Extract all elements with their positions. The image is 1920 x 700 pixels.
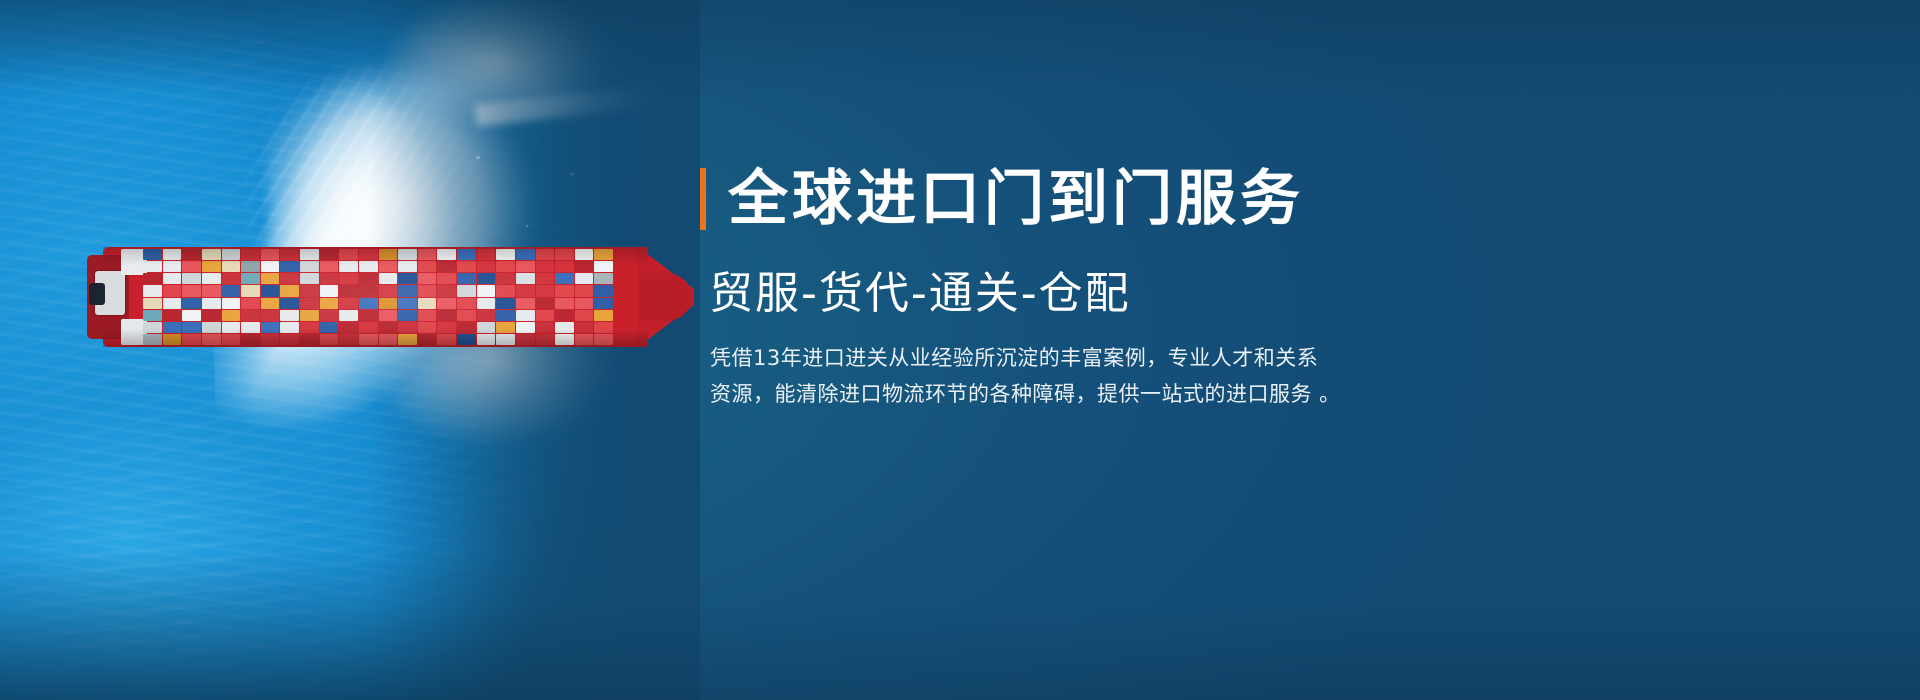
shipping-container — [261, 285, 280, 296]
shipping-container — [261, 298, 280, 309]
shipping-container — [379, 273, 398, 284]
shipping-container — [300, 285, 319, 296]
shipping-container — [555, 298, 574, 309]
shipping-container — [555, 261, 574, 272]
shipping-container — [555, 273, 574, 284]
shipping-container — [477, 322, 496, 333]
shipping-container — [575, 249, 594, 260]
shipping-container — [496, 322, 515, 333]
shipping-container — [202, 261, 221, 272]
shipping-container — [182, 285, 201, 296]
shipping-container — [594, 261, 613, 272]
container-stack — [575, 249, 594, 345]
shipping-container — [437, 249, 456, 260]
shipping-container — [457, 249, 476, 260]
shipping-container — [339, 261, 358, 272]
container-stack — [280, 249, 299, 345]
shipping-container — [320, 310, 339, 321]
shipping-container — [594, 322, 613, 333]
shipping-container — [398, 285, 417, 296]
shipping-container — [536, 322, 555, 333]
shipping-container — [182, 249, 201, 260]
shipping-container — [418, 249, 437, 260]
shipping-container — [182, 334, 201, 345]
shipping-container — [496, 298, 515, 309]
shipping-container — [555, 249, 574, 260]
shipping-container — [516, 322, 535, 333]
container-stack — [594, 249, 613, 345]
shipping-container — [379, 298, 398, 309]
shipping-container — [143, 334, 162, 345]
container-stack — [339, 249, 358, 345]
container-stack — [516, 249, 535, 345]
shipping-container — [280, 334, 299, 345]
shipping-container — [437, 261, 456, 272]
shipping-container — [300, 249, 319, 260]
shipping-container — [359, 261, 378, 272]
shipping-container — [575, 334, 594, 345]
shipping-container — [359, 310, 378, 321]
shipping-container — [575, 285, 594, 296]
shipping-container — [536, 310, 555, 321]
shipping-container — [182, 322, 201, 333]
shipping-container — [143, 298, 162, 309]
shipping-container — [437, 298, 456, 309]
shipping-container — [496, 249, 515, 260]
shipping-container — [379, 310, 398, 321]
shipping-container — [163, 273, 182, 284]
shipping-container — [300, 298, 319, 309]
shipping-container — [182, 261, 201, 272]
shipping-container — [477, 261, 496, 272]
shipping-container — [477, 249, 496, 260]
container-stack — [320, 249, 339, 345]
shipping-container — [594, 310, 613, 321]
shipping-container — [418, 322, 437, 333]
shipping-container — [163, 310, 182, 321]
shipping-container — [320, 322, 339, 333]
shipping-container — [339, 285, 358, 296]
shipping-container — [418, 273, 437, 284]
shipping-container — [143, 285, 162, 296]
container-stack — [379, 249, 398, 345]
shipping-container — [202, 310, 221, 321]
shipping-container — [594, 285, 613, 296]
shipping-container — [241, 310, 260, 321]
shipping-container — [320, 249, 339, 260]
container-ship — [103, 247, 648, 347]
shipping-container — [398, 298, 417, 309]
shipping-container — [477, 310, 496, 321]
shipping-container — [496, 285, 515, 296]
shipping-container — [222, 285, 241, 296]
container-stacks — [143, 249, 613, 345]
shipping-container — [143, 249, 162, 260]
accent-bar — [700, 168, 706, 230]
container-stack — [398, 249, 417, 345]
shipping-container — [555, 285, 574, 296]
shipping-container — [163, 249, 182, 260]
shipping-container — [575, 310, 594, 321]
shipping-container — [359, 298, 378, 309]
shipping-container — [241, 334, 260, 345]
shipping-container — [300, 310, 319, 321]
shipping-container — [437, 273, 456, 284]
shipping-container — [261, 249, 280, 260]
shipping-container — [457, 334, 476, 345]
banner-headline: 全球进口门到门服务 — [728, 169, 1304, 229]
shipping-container — [536, 273, 555, 284]
shipping-container — [359, 322, 378, 333]
banner-subheadline: 贸服-货代-通关-仓配 — [709, 272, 1131, 316]
shipping-container — [496, 334, 515, 345]
shipping-container — [398, 273, 417, 284]
shipping-container — [457, 261, 476, 272]
container-stack — [300, 249, 319, 345]
shipping-container — [496, 310, 515, 321]
shipping-container — [339, 249, 358, 260]
shipping-container — [575, 273, 594, 284]
container-stack — [202, 249, 221, 345]
shipping-container — [222, 334, 241, 345]
shipping-container — [437, 322, 456, 333]
shipping-container — [241, 322, 260, 333]
container-stack — [536, 249, 555, 345]
shipping-container — [398, 322, 417, 333]
shipping-container — [241, 273, 260, 284]
shipping-container — [182, 273, 201, 284]
shipping-container — [143, 273, 162, 284]
shipping-container — [222, 310, 241, 321]
shipping-container — [594, 334, 613, 345]
shipping-container — [202, 249, 221, 260]
shipping-container — [359, 334, 378, 345]
shipping-container — [516, 249, 535, 260]
shipping-container — [143, 261, 162, 272]
container-stack — [241, 249, 260, 345]
shipping-container — [163, 261, 182, 272]
shipping-container — [241, 285, 260, 296]
shipping-container — [222, 261, 241, 272]
description-line-2: 资源，能清除进口物流环节的各种障碍，提供一站式的进口服务 。 — [710, 376, 1420, 412]
shipping-container — [379, 322, 398, 333]
shipping-container — [163, 285, 182, 296]
shipping-container — [418, 285, 437, 296]
shipping-container — [516, 261, 535, 272]
shipping-container — [339, 298, 358, 309]
shipping-container — [457, 285, 476, 296]
banner-description: 凭借13年进口进关从业经验所沉淀的丰富案例，专业人才和关系 资源，能清除进口物流… — [710, 340, 1420, 412]
shipping-container — [280, 273, 299, 284]
shipping-container — [222, 273, 241, 284]
shipping-container — [359, 249, 378, 260]
hero-banner: 全球进口门到门服务 贸服-货代-通关-仓配 凭借13年进口进关从业经验所沉淀的丰… — [0, 0, 1920, 700]
shipping-container — [418, 298, 437, 309]
container-stack — [496, 249, 515, 345]
shipping-container — [457, 322, 476, 333]
container-stack — [418, 249, 437, 345]
shipping-container — [398, 249, 417, 260]
shipping-container — [379, 249, 398, 260]
shipping-container — [398, 334, 417, 345]
shipping-container — [457, 310, 476, 321]
shipping-container — [437, 310, 456, 321]
shipping-container — [516, 310, 535, 321]
shipping-container — [261, 310, 280, 321]
headline-row: 全球进口门到门服务 — [700, 168, 1304, 230]
container-stack — [555, 249, 574, 345]
ship-funnel — [89, 283, 105, 305]
shipping-container — [516, 334, 535, 345]
container-stack — [437, 249, 456, 345]
shipping-container — [555, 322, 574, 333]
container-stack — [359, 249, 378, 345]
shipping-container — [320, 273, 339, 284]
shipping-container — [555, 334, 574, 345]
shipping-container — [280, 310, 299, 321]
shipping-container — [457, 273, 476, 284]
shipping-container — [241, 261, 260, 272]
shipping-container — [496, 261, 515, 272]
shipping-container — [516, 273, 535, 284]
shipping-container — [437, 334, 456, 345]
shipping-container — [261, 334, 280, 345]
shipping-container — [418, 261, 437, 272]
shipping-container — [202, 334, 221, 345]
shipping-container — [202, 285, 221, 296]
shipping-container — [163, 298, 182, 309]
shipping-container — [575, 298, 594, 309]
shipping-container — [398, 261, 417, 272]
shipping-container — [594, 249, 613, 260]
shipping-container — [280, 285, 299, 296]
shipping-container — [300, 273, 319, 284]
shipping-container — [300, 322, 319, 333]
shipping-container — [555, 310, 574, 321]
ship-bow-tip — [640, 273, 692, 321]
shipping-container — [359, 273, 378, 284]
shipping-container — [418, 334, 437, 345]
shipping-container — [477, 273, 496, 284]
shipping-container — [379, 334, 398, 345]
shipping-container — [143, 322, 162, 333]
shipping-container — [241, 249, 260, 260]
shipping-container — [339, 334, 358, 345]
shipping-container — [261, 322, 280, 333]
shipping-container — [536, 334, 555, 345]
container-stack — [457, 249, 476, 345]
shipping-container — [437, 285, 456, 296]
shipping-container — [320, 285, 339, 296]
shipping-container — [594, 273, 613, 284]
shipping-container — [516, 298, 535, 309]
shipping-container — [398, 310, 417, 321]
container-stack — [163, 249, 182, 345]
container-stack — [182, 249, 201, 345]
shipping-container — [202, 322, 221, 333]
description-line-1: 凭借13年进口进关从业经验所沉淀的丰富案例，专业人才和关系 — [710, 340, 1420, 376]
shipping-container — [457, 298, 476, 309]
shipping-container — [280, 298, 299, 309]
shipping-container — [477, 285, 496, 296]
shipping-container — [477, 334, 496, 345]
shipping-container — [418, 310, 437, 321]
shipping-container — [241, 298, 260, 309]
shipping-container — [496, 273, 515, 284]
shipping-container — [202, 298, 221, 309]
shipping-container — [575, 322, 594, 333]
shipping-container — [280, 322, 299, 333]
shipping-container — [379, 285, 398, 296]
shipping-container — [339, 310, 358, 321]
shipping-container — [280, 249, 299, 260]
shipping-container — [163, 322, 182, 333]
shipping-container — [143, 310, 162, 321]
shipping-container — [202, 273, 221, 284]
shipping-container — [536, 249, 555, 260]
shipping-container — [339, 322, 358, 333]
shipping-container — [379, 261, 398, 272]
shipping-container — [300, 261, 319, 272]
container-stack — [143, 249, 162, 345]
shipping-container — [339, 273, 358, 284]
shipping-container — [359, 285, 378, 296]
shipping-container — [261, 273, 280, 284]
container-stack — [222, 249, 241, 345]
shipping-container — [320, 334, 339, 345]
banner-content: 全球进口门到门服务 贸服-货代-通关-仓配 凭借13年进口进关从业经验所沉淀的丰… — [700, 0, 1920, 700]
shipping-container — [594, 298, 613, 309]
ocean-photo — [0, 0, 700, 700]
shipping-container — [575, 261, 594, 272]
shipping-container — [516, 285, 535, 296]
shipping-container — [320, 298, 339, 309]
shipping-container — [222, 322, 241, 333]
container-stack — [477, 249, 496, 345]
shipping-container — [477, 298, 496, 309]
shipping-container — [222, 298, 241, 309]
shipping-container — [300, 334, 319, 345]
shipping-container — [222, 249, 241, 260]
shipping-container — [536, 261, 555, 272]
shipping-container — [163, 334, 182, 345]
shipping-container — [182, 310, 201, 321]
container-stack — [261, 249, 280, 345]
shipping-container — [536, 285, 555, 296]
photo-fade-right — [370, 0, 700, 700]
shipping-container — [261, 261, 280, 272]
shipping-container — [182, 298, 201, 309]
shipping-container — [320, 261, 339, 272]
shipping-container — [280, 261, 299, 272]
shipping-container — [536, 298, 555, 309]
